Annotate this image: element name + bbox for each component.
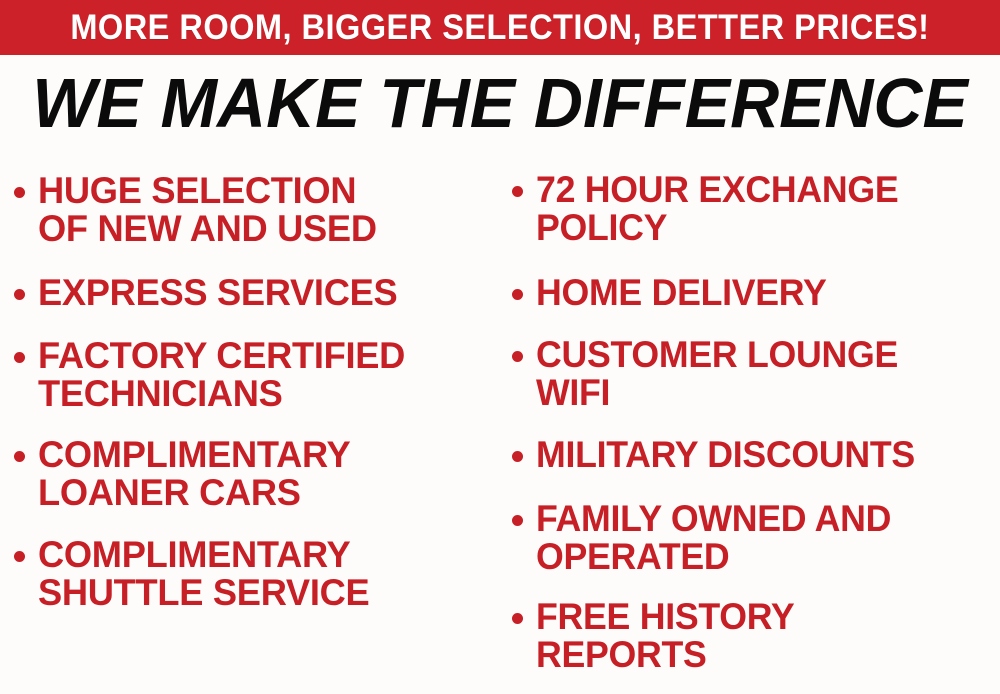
list-item: HUGE SELECTION OF NEW AND USED <box>14 172 502 248</box>
list-item: COMPLIMENTARY SHUTTLE SERVICE <box>14 536 502 612</box>
top-banner: MORE ROOM, BIGGER SELECTION, BETTER PRIC… <box>0 0 1000 55</box>
bullet-dot-icon <box>14 187 25 198</box>
bullet-dot-icon <box>512 351 523 362</box>
list-item: COMPLIMENTARY LOANER CARS <box>14 436 502 512</box>
list-item: FAMILY OWNED AND OPERATED <box>512 500 1000 576</box>
list-item: FACTORY CERTIFIED TECHNICIANS <box>14 337 502 413</box>
features-list: HUGE SELECTION OF NEW AND USED EXPRESS S… <box>0 162 1000 694</box>
list-item-label: HUGE SELECTION OF NEW AND USED <box>38 172 493 248</box>
list-item: EXPRESS SERVICES <box>14 274 502 312</box>
list-item-label: FREE HISTORY REPORTS <box>536 598 984 674</box>
bullet-dot-icon <box>14 551 25 562</box>
list-item-label: EXPRESS SERVICES <box>38 274 493 312</box>
features-left-column: HUGE SELECTION OF NEW AND USED EXPRESS S… <box>14 162 502 612</box>
list-item: MILITARY DISCOUNTS <box>512 436 1000 474</box>
bullet-dot-icon <box>512 515 523 526</box>
list-item: 72 HOUR EXCHANGE POLICY <box>512 171 1000 247</box>
bullet-dot-icon <box>512 613 523 624</box>
dealership-promo-poster: MORE ROOM, BIGGER SELECTION, BETTER PRIC… <box>0 0 1000 694</box>
page-title: WE MAKE THE DIFFERENCE <box>15 68 985 138</box>
list-item: FREE HISTORY REPORTS <box>512 598 1000 674</box>
bullet-dot-icon <box>14 352 25 363</box>
bullet-dot-icon <box>14 451 25 462</box>
list-item-label: FACTORY CERTIFIED TECHNICIANS <box>38 337 493 413</box>
bullet-dot-icon <box>512 451 523 462</box>
list-item-label: COMPLIMENTARY SHUTTLE SERVICE <box>38 536 493 612</box>
list-item-label: 72 HOUR EXCHANGE POLICY <box>536 171 984 247</box>
bullet-dot-icon <box>512 186 523 197</box>
list-item-label: COMPLIMENTARY LOANER CARS <box>38 436 493 512</box>
bullet-dot-icon <box>14 289 25 300</box>
banner-headline-text: MORE ROOM, BIGGER SELECTION, BETTER PRIC… <box>70 10 929 45</box>
list-item-label: FAMILY OWNED AND OPERATED <box>536 500 984 576</box>
list-item-label: CUSTOMER LOUNGE WIFI <box>536 336 984 412</box>
list-item: CUSTOMER LOUNGE WIFI <box>512 336 1000 412</box>
list-item: HOME DELIVERY <box>512 274 1000 312</box>
bullet-dot-icon <box>512 289 523 300</box>
list-item-label: MILITARY DISCOUNTS <box>536 436 984 474</box>
list-item-label: HOME DELIVERY <box>536 274 984 312</box>
features-right-column: 72 HOUR EXCHANGE POLICY HOME DELIVERY CU… <box>512 162 1000 674</box>
